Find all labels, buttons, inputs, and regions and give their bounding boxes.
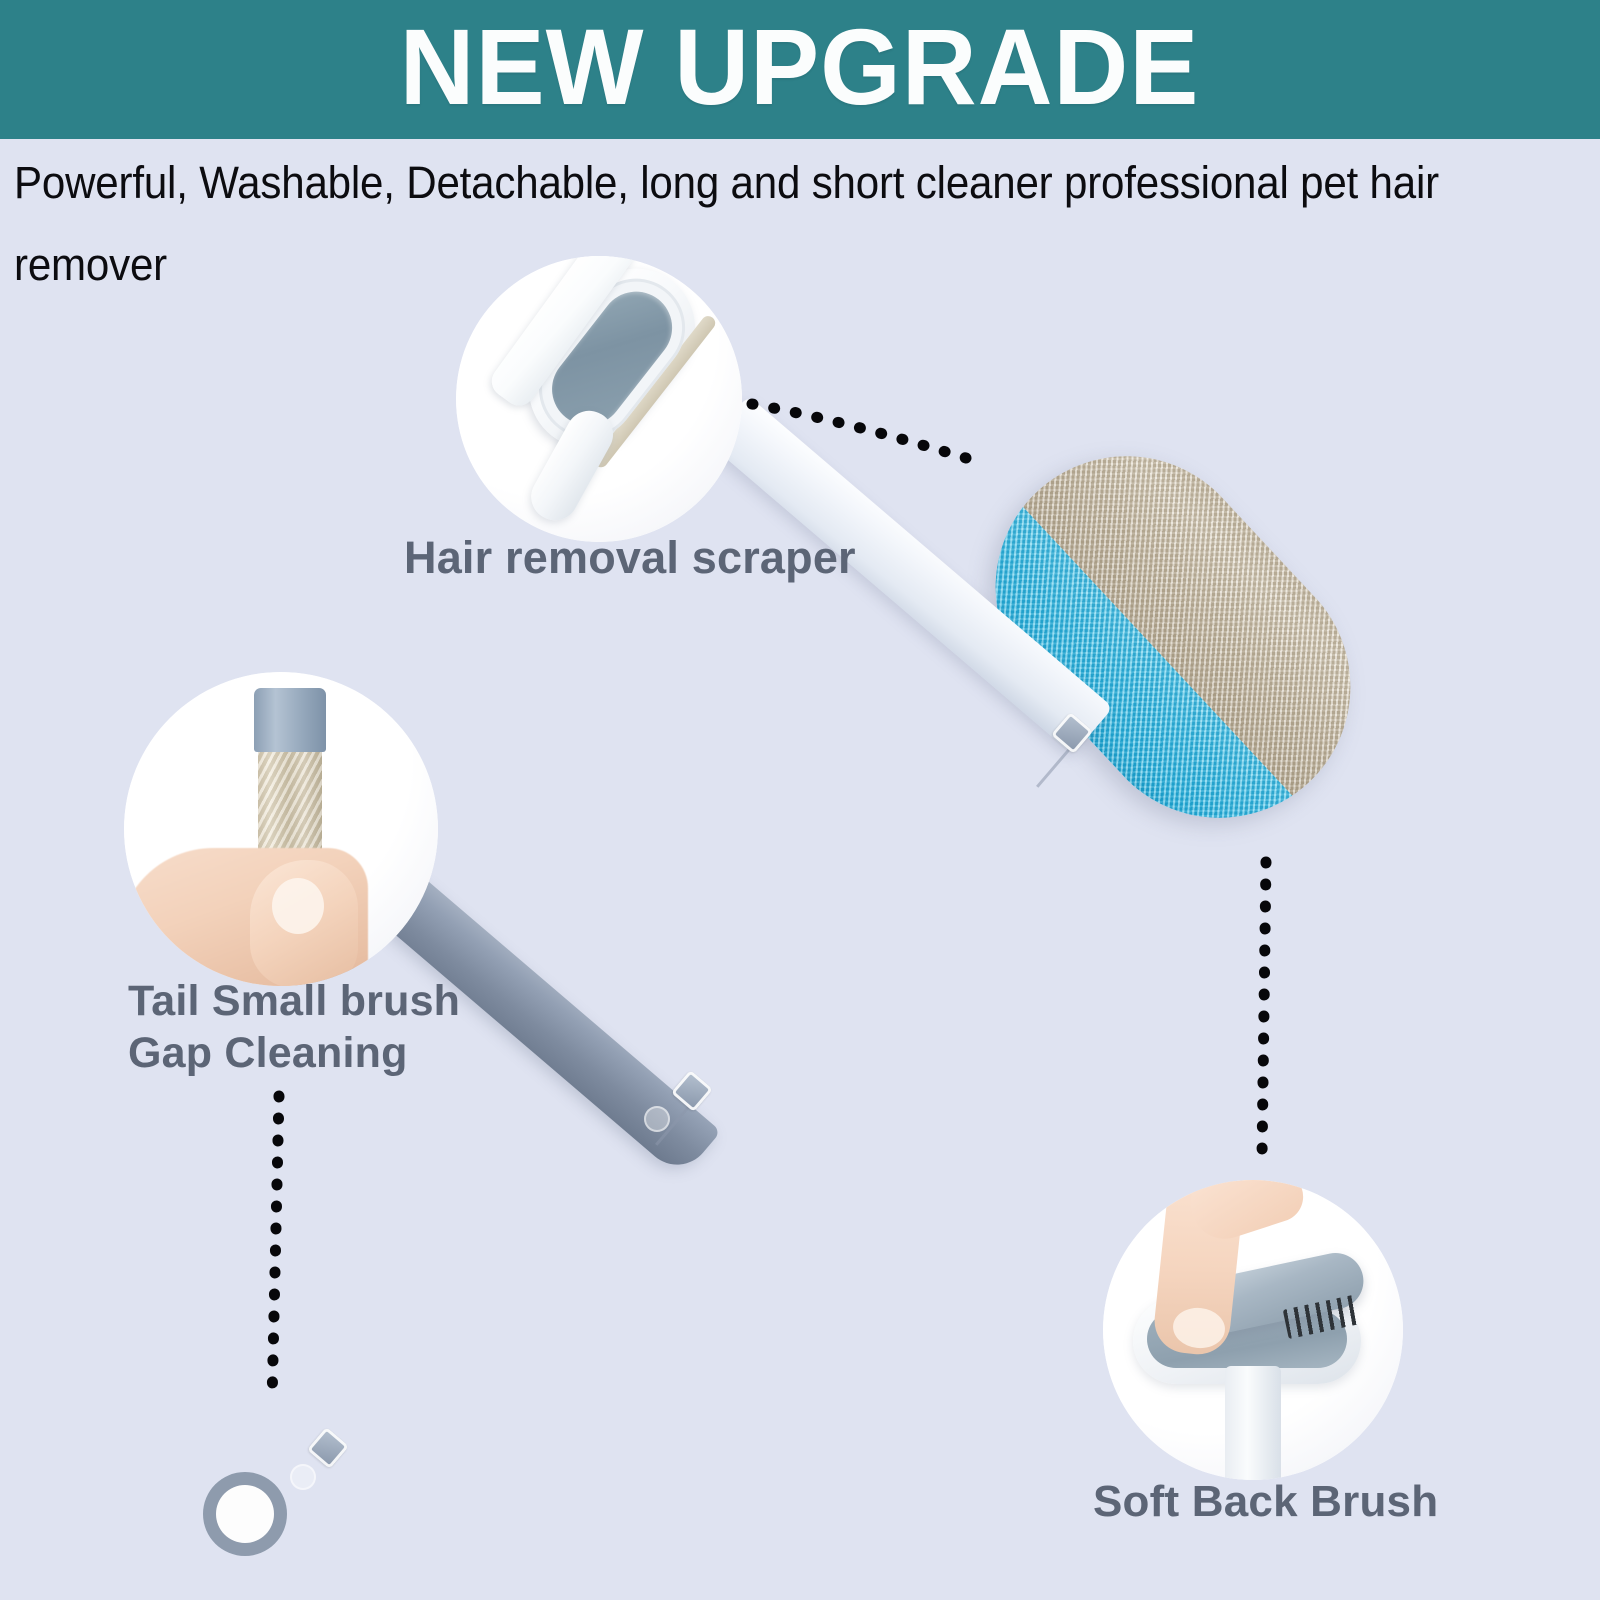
leader-line-tail-brush	[272, 1096, 279, 1402]
brush-head	[938, 392, 1408, 882]
fabric-strip	[1022, 402, 1405, 797]
callout-label-hair-removal-scraper: Hair removal scraper	[404, 533, 856, 583]
detent-dimple-middle	[644, 1106, 670, 1132]
subtitle-text: Powerful, Washable, Detachable, long and…	[14, 142, 1487, 306]
callout-label-tail-small-brush: Tail Small brush Gap Cleaning	[128, 975, 460, 1079]
release-button-lower	[307, 1427, 349, 1469]
infographic-canvas: NEW UPGRADE Powerful, Washable, Detachab…	[0, 0, 1600, 1600]
header-banner: NEW UPGRADE	[0, 0, 1600, 139]
soft-brush-stem	[1225, 1366, 1281, 1480]
leader-line-scraper	[752, 404, 966, 458]
release-button-middle	[671, 1070, 713, 1112]
callout-label-soft-back-brush: Soft Back Brush	[1093, 1477, 1438, 1527]
thumbnail	[272, 878, 324, 934]
release-button-upper	[1051, 712, 1093, 754]
lint-strip	[941, 506, 1293, 872]
detent-dimple-lower	[290, 1464, 316, 1490]
tail-collar-upper	[254, 688, 326, 752]
leader-line-soft-back-brush	[1262, 862, 1266, 1156]
tail-photo	[124, 672, 438, 986]
inset-hair-removal-scraper	[456, 256, 742, 542]
inset-tail-small-brush	[124, 672, 438, 986]
handle-seam-upper	[1036, 737, 1080, 788]
brush-head-pad	[941, 402, 1404, 872]
hanging-hole	[216, 1485, 274, 1543]
inset-soft-back-brush	[1103, 1180, 1403, 1480]
page-title: NEW UPGRADE	[400, 13, 1200, 121]
handle-seam-middle	[655, 1095, 699, 1146]
